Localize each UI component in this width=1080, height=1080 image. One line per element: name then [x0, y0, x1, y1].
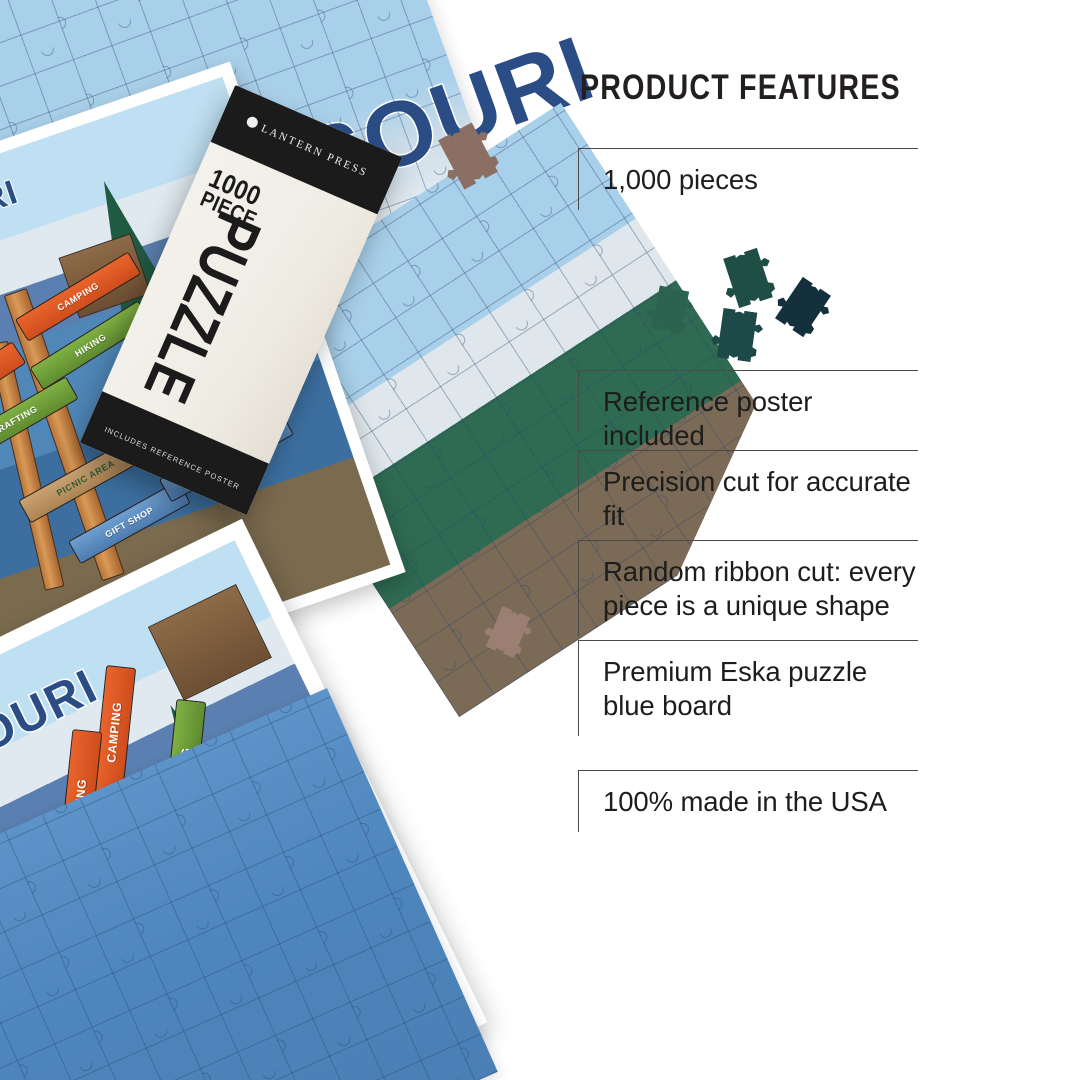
feature-label: Random ribbon cut: every piece is a uniq…	[579, 541, 918, 622]
product-listing-image: MISSOURI MISSOURI	[0, 0, 1080, 1080]
feature-item: 1,000 pieces	[578, 148, 918, 210]
feature-label: Reference poster included	[579, 371, 918, 452]
poster-destination-title: MISSOURI	[0, 173, 23, 267]
feature-label: Precision cut for accurate fit	[579, 451, 918, 532]
product-features-panel: PRODUCT FEATURES 1,000 piecesReference p…	[578, 70, 1038, 900]
page-title: PRODUCT FEATURES	[580, 70, 956, 105]
feature-label: 100% made in the USA	[579, 771, 918, 819]
cabin	[148, 584, 272, 701]
feature-item: Premium Eska puzzle blue board	[578, 640, 918, 736]
feature-item: Precision cut for accurate fit	[578, 450, 918, 512]
feature-item: 100% made in the USA	[578, 770, 918, 832]
feature-item: Reference poster included	[578, 370, 918, 432]
feature-label: Premium Eska puzzle blue board	[579, 641, 918, 722]
feature-label: 1,000 pieces	[579, 149, 918, 197]
feature-item: Random ribbon cut: every piece is a uniq…	[578, 540, 918, 636]
